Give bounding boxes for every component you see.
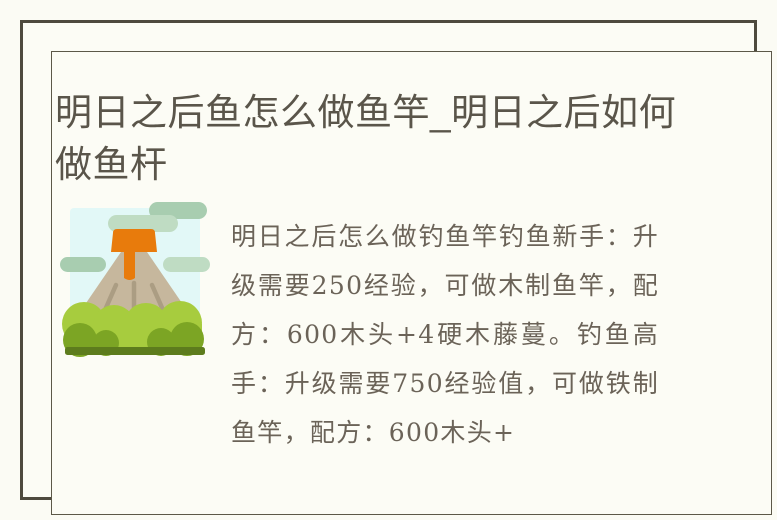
cloud-icon-left [60,257,106,272]
article-card-page: 明日之后鱼怎么做鱼竿_明日之后如何做鱼杆 [0,0,777,520]
cloud-icon-right [163,257,210,272]
lava-crater [111,229,157,252]
article-body-text: 明日之后怎么做钓鱼竿钓鱼新手：升级需要250经验，可做木制鱼竿，配方：600木头… [231,212,659,460]
lava-drip [124,249,135,280]
page-title: 明日之后鱼怎么做鱼竿_明日之后如何做鱼杆 [55,87,695,191]
ground-bar [65,347,205,355]
volcano-illustration [60,200,210,360]
